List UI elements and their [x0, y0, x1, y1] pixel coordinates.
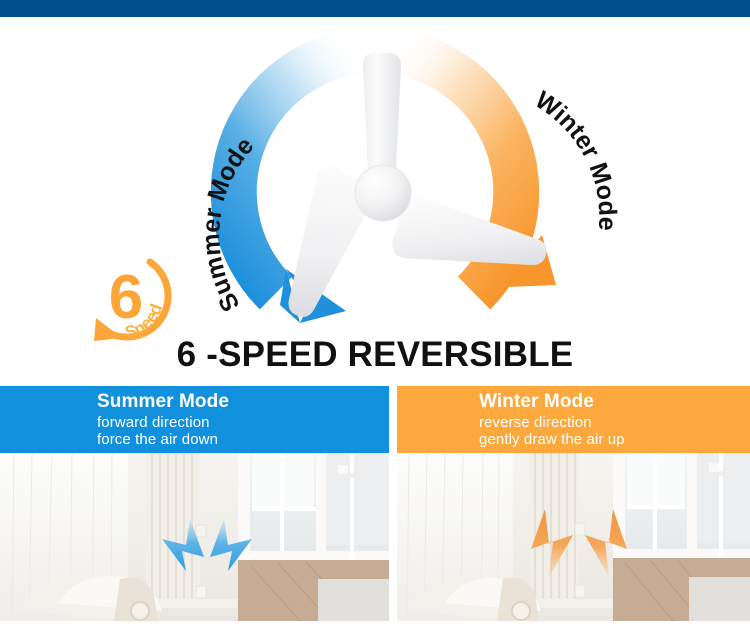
- mode-panels: Summer Mode forward direction force the …: [0, 386, 750, 621]
- winter-mode-title: Winter Mode: [479, 390, 750, 414]
- summer-mode-line2: force the air down: [97, 431, 389, 448]
- page-title: 6 -SPEED REVERSIBLE: [0, 333, 750, 377]
- summer-mode-line1: forward direction: [97, 414, 389, 431]
- winter-mode-line2: gently draw the air up: [479, 431, 750, 448]
- summer-room-scene: [0, 453, 389, 621]
- summer-mode-panel: Summer Mode forward direction force the …: [0, 386, 389, 621]
- winter-room-photo: [397, 453, 750, 621]
- top-accent-bar: [0, 0, 750, 17]
- summer-mode-title: Summer Mode: [97, 390, 389, 414]
- winter-room-scene: [397, 453, 750, 621]
- winter-mode-panel: Winter Mode reverse direction gently dra…: [397, 386, 750, 621]
- winter-arc-label: Winter Mode: [530, 86, 621, 232]
- winter-mode-banner: Winter Mode reverse direction gently dra…: [397, 386, 750, 453]
- summer-room-photo: [0, 453, 389, 621]
- winter-mode-line1: reverse direction: [479, 414, 750, 431]
- summer-mode-banner: Summer Mode forward direction force the …: [0, 386, 389, 453]
